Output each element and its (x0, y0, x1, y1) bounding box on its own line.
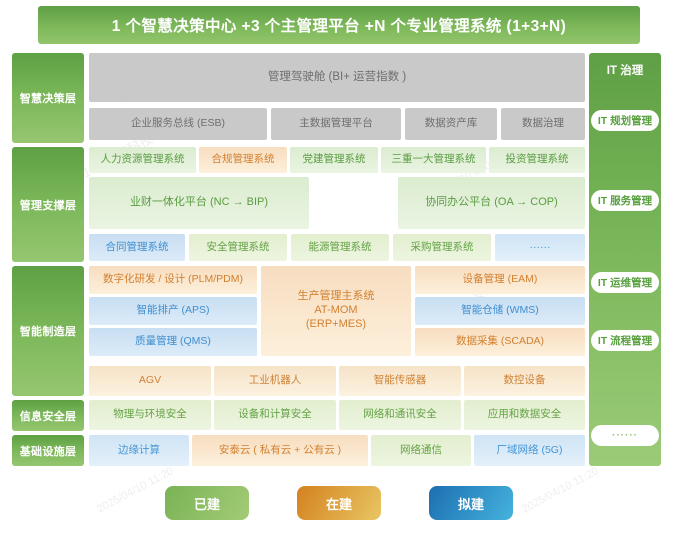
it-pill-process[interactable]: IT 流程管理 (591, 330, 659, 351)
box-edge-computing[interactable]: 边缘计算 (89, 435, 189, 466)
legend: 已建 在建 拟建 (0, 480, 678, 526)
box-management-cockpit[interactable]: 管理驾驶舱 (BI+ 运营指数 ) (89, 53, 585, 102)
it-pill-service[interactable]: IT 服务管理 (591, 190, 659, 211)
architecture-diagram: 1 个智慧决策中心 +3 个主管理平台 +N 个专业管理系统 (1+3+N) 2… (0, 0, 678, 535)
production-system-line2: AT-MOM (314, 304, 357, 318)
it-pill-planning[interactable]: IT 规划管理 (591, 110, 659, 131)
box-wms[interactable]: 智能仓储 (WMS) (415, 297, 585, 325)
layer-label-decision: 智慧决策层 (12, 53, 84, 143)
layer-label-support: 管理支撑层 (12, 147, 84, 262)
box-data-asset[interactable]: 数据资产库 (405, 108, 497, 140)
box-investment-system[interactable]: 投资管理系统 (489, 147, 585, 173)
box-device-compute-security[interactable]: 设备和计算安全 (214, 400, 336, 430)
box-oa-platform[interactable]: 协同办公平台 (OA → COP) (398, 177, 585, 229)
box-hr-system[interactable]: 人力资源管理系统 (89, 147, 196, 173)
box-mdm[interactable]: 主数据管理平台 (271, 108, 401, 140)
box-production-main-system[interactable]: 生产管理主系统 AT-MOM (ERP+MES) (261, 266, 411, 356)
box-antai-cloud[interactable]: 安泰云 ( 私有云 + 公有云 ) (192, 435, 368, 466)
box-finance-platform[interactable]: 业财一体化平台 (NC → BIP) (89, 177, 309, 229)
legend-built[interactable]: 已建 (165, 486, 249, 520)
box-application-data-security[interactable]: 应用和数据安全 (464, 400, 585, 430)
box-three-major-one-large-system[interactable]: 三重一大管理系统 (381, 147, 486, 173)
page-title: 1 个智慧决策中心 +3 个主管理平台 +N 个专业管理系统 (1+3+N) (38, 6, 640, 44)
it-pill-ops[interactable]: IT 运维管理 (591, 272, 659, 293)
legend-planned[interactable]: 拟建 (429, 486, 513, 520)
production-system-line1: 生产管理主系统 (298, 290, 375, 304)
box-factory-wan-5g[interactable]: 厂域网络 (5G) (474, 435, 585, 466)
layer-label-manufacturing: 智能制造层 (12, 266, 84, 396)
box-plm-pdm[interactable]: 数字化研发 / 设计 (PLM/PDM) (89, 266, 257, 294)
box-compliance-system[interactable]: 合规管理系统 (199, 147, 287, 173)
production-system-line3: (ERP+MES) (306, 318, 366, 332)
layer-label-infrastructure: 基础设施层 (12, 435, 84, 466)
box-network-communication-security[interactable]: 网络和通讯安全 (339, 400, 461, 430)
box-eam[interactable]: 设备管理 (EAM) (415, 266, 585, 294)
box-support-more[interactable]: ······ (495, 234, 585, 261)
box-contract-system[interactable]: 合同管理系统 (89, 234, 185, 261)
box-qms[interactable]: 质量管理 (QMS) (89, 328, 257, 356)
it-governance-heading: IT 治理 (589, 60, 661, 80)
it-pill-more[interactable]: ······ (591, 425, 659, 446)
box-safety-system[interactable]: 安全管理系统 (189, 234, 287, 261)
box-procurement-system[interactable]: 采购管理系统 (393, 234, 491, 261)
box-smart-sensor[interactable]: 智能传感器 (339, 366, 461, 396)
box-agv[interactable]: AGV (89, 366, 211, 396)
box-network-communication[interactable]: 网络通信 (371, 435, 471, 466)
box-scada[interactable]: 数据采集 (SCADA) (415, 328, 585, 356)
box-aps[interactable]: 智能排产 (APS) (89, 297, 257, 325)
legend-under-construction[interactable]: 在建 (297, 486, 381, 520)
layer-label-security: 信息安全层 (12, 400, 84, 431)
box-cnc-equipment[interactable]: 数控设备 (464, 366, 585, 396)
box-esb[interactable]: 企业服务总线 (ESB) (89, 108, 267, 140)
box-data-governance[interactable]: 数据治理 (501, 108, 585, 140)
box-physical-environment-security[interactable]: 物理与环境安全 (89, 400, 211, 430)
box-party-building-system[interactable]: 党建管理系统 (290, 147, 378, 173)
box-energy-system[interactable]: 能源管理系统 (291, 234, 389, 261)
box-industrial-robot[interactable]: 工业机器人 (214, 366, 336, 396)
